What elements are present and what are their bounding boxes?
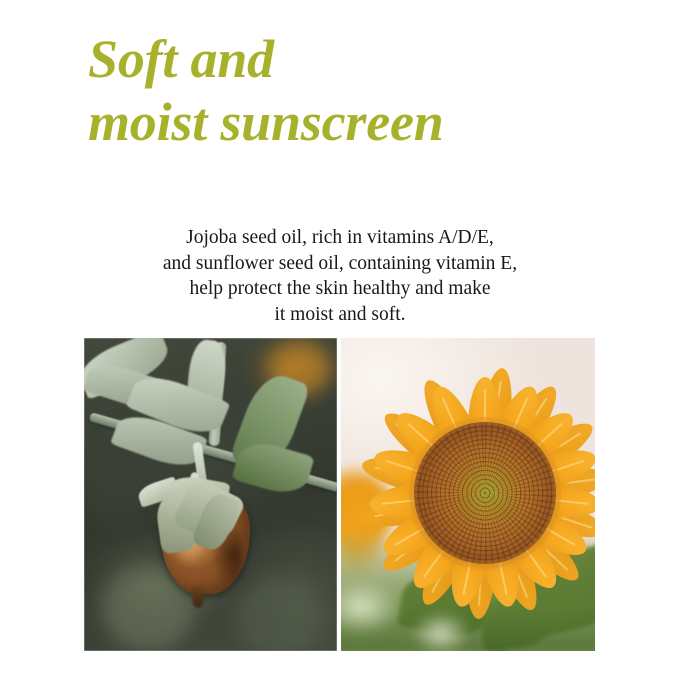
photo-strip xyxy=(84,338,595,651)
description-text: Jojoba seed oil, rich in vitamins A/D/E,… xyxy=(60,225,620,327)
sunflower-disc-rim xyxy=(409,417,561,569)
jojoba-seed-photo xyxy=(84,338,337,651)
description-line-2: and sunflower seed oil, containing vitam… xyxy=(60,251,620,277)
sunflower-photo xyxy=(341,338,595,651)
sunflower-bloom xyxy=(371,368,595,618)
jojoba-seed-tip xyxy=(192,586,204,608)
page-title-line-2: moist sunscreen xyxy=(88,91,628,154)
description-line-3: help protect the skin healthy and make xyxy=(60,276,620,302)
description-line-1: Jojoba seed oil, rich in vitamins A/D/E, xyxy=(60,225,620,251)
jojoba-bokeh-lower-right xyxy=(234,578,324,651)
page-title: Soft and moist sunscreen xyxy=(88,28,628,154)
product-info-panel: Soft and moist sunscreen Jojoba seed oil… xyxy=(0,0,679,679)
page-title-line-1: Soft and xyxy=(88,28,628,91)
description-line-4: it moist and soft. xyxy=(60,302,620,328)
